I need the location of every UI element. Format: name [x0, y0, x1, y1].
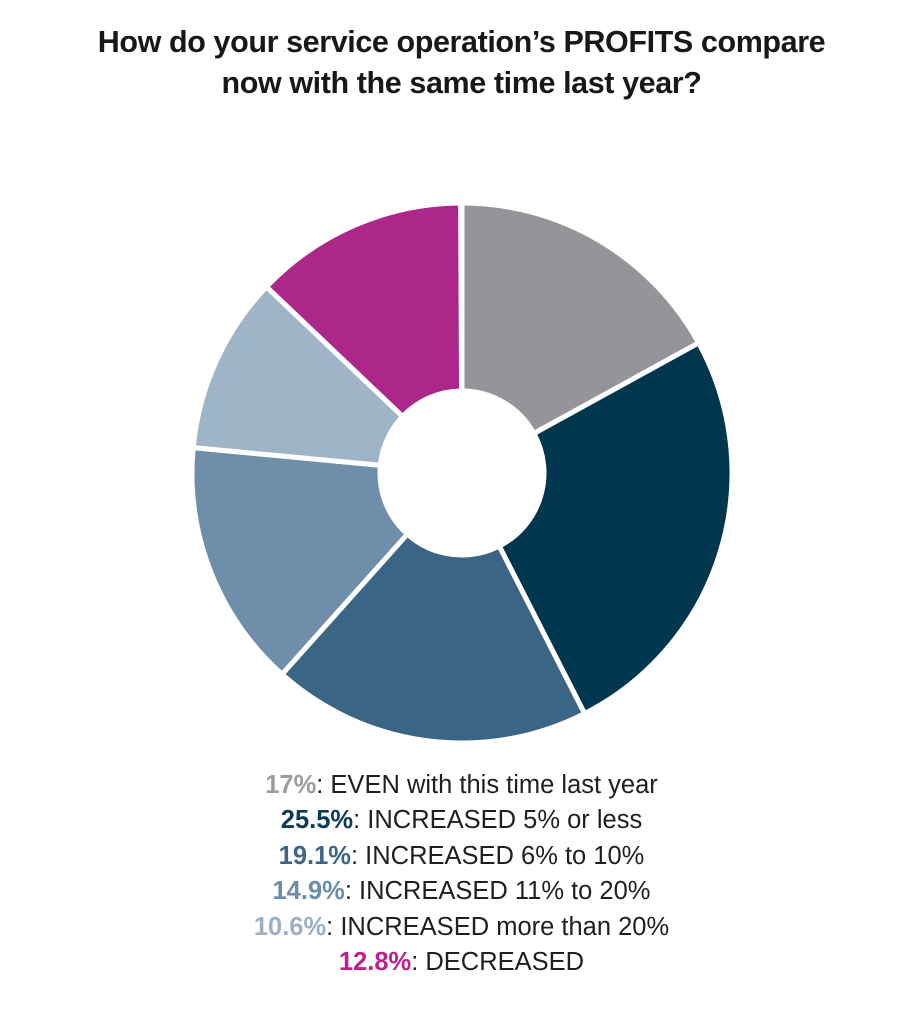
donut-chart-svg — [192, 203, 732, 743]
page-title: How do your service operation’s PROFITS … — [0, 22, 923, 104]
legend-percent: 25.5% — [281, 806, 353, 834]
legend-item: 17%: EVEN with this time last year — [0, 768, 923, 803]
legend-label: EVEN with this time last year — [323, 771, 657, 799]
legend-label: INCREASED 5% or less — [360, 806, 642, 834]
legend-item: 10.6%: INCREASED more than 20% — [0, 910, 923, 945]
legend-percent: 19.1% — [279, 842, 351, 870]
legend-label: DECREASED — [418, 948, 584, 976]
legend-item: 19.1%: INCREASED 6% to 10% — [0, 839, 923, 874]
legend-label: INCREASED 6% to 10% — [358, 842, 644, 870]
legend: 17%: EVEN with this time last year25.5%:… — [0, 768, 923, 980]
donut-slice-group — [192, 203, 732, 743]
legend-separator: : — [345, 877, 352, 905]
legend-percent: 14.9% — [273, 877, 345, 905]
legend-item: 25.5%: INCREASED 5% or less — [0, 803, 923, 838]
legend-label: INCREASED 11% to 20% — [352, 877, 651, 905]
legend-percent: 12.8% — [339, 948, 411, 976]
legend-percent: 17% — [265, 771, 316, 799]
legend-percent: 10.6% — [254, 913, 326, 941]
legend-separator: : — [351, 842, 358, 870]
donut-chart — [192, 203, 732, 743]
legend-label: INCREASED more than 20% — [333, 913, 669, 941]
legend-item: 12.8%: DECREASED — [0, 945, 923, 980]
legend-item: 14.9%: INCREASED 11% to 20% — [0, 874, 923, 909]
